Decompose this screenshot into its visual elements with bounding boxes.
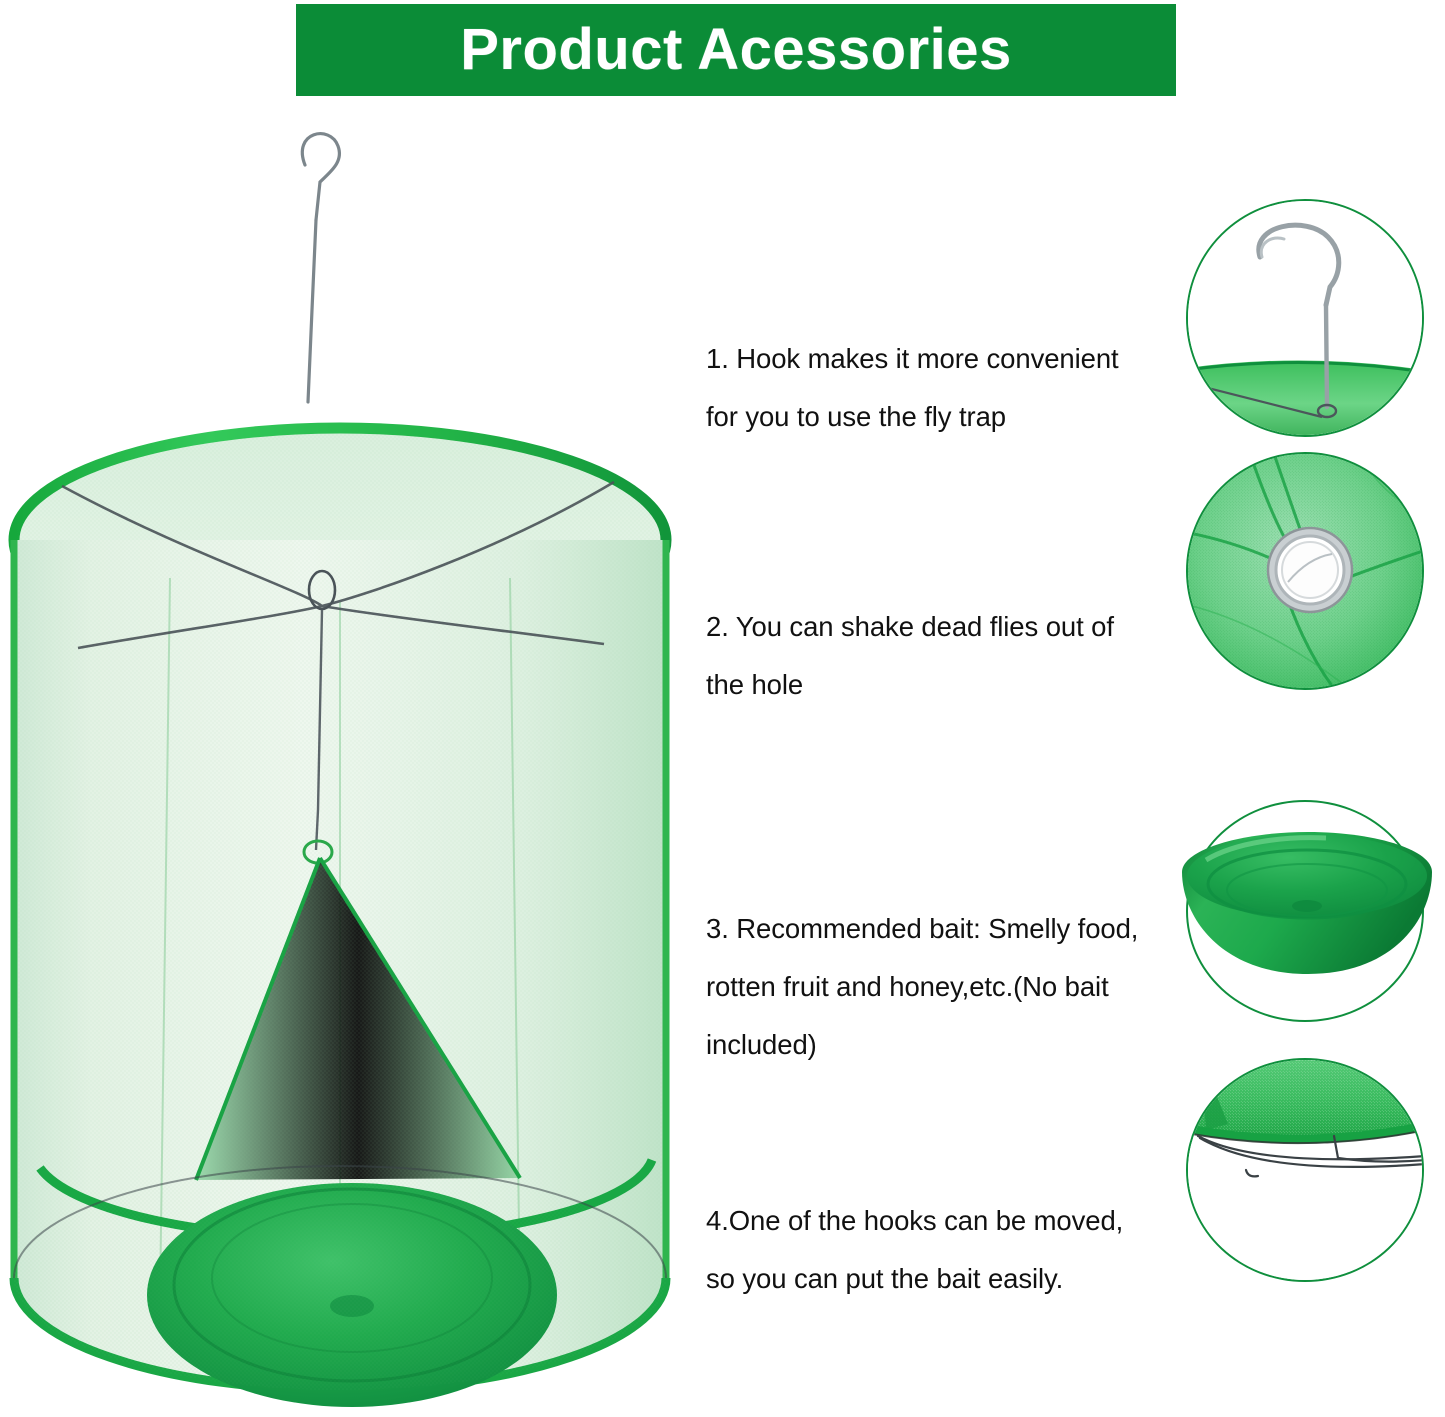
feature-item-4: 4.One of the hooks can be moved, so you … [706, 1192, 1176, 1308]
bait-bowl-art [1166, 820, 1445, 1010]
feature-1-line-2: for you to use the fly trap [706, 388, 1176, 446]
feature-item-1: 1. Hook makes it more convenient for you… [706, 330, 1176, 446]
page-title: Product Acessories [460, 21, 1012, 79]
thumbnail-grommet-hole-closeup [1186, 452, 1424, 690]
feature-item-3: 3. Recommended bait: Smelly food, rotten… [706, 900, 1176, 1074]
wire-hook-icon [302, 134, 339, 402]
metal-grommet-icon [1268, 528, 1352, 612]
feature-1-line-1: 1. Hook makes it more convenient [706, 330, 1176, 388]
feature-3-line-3: included) [706, 1016, 1176, 1074]
feature-2-line-2: the hole [706, 656, 1176, 714]
thumbnail-movable-hook-closeup [1186, 1058, 1424, 1282]
feature-4-line-2: so you can put the bait easily. [706, 1250, 1176, 1308]
product-accessories-infographic: Product Acessories [0, 0, 1445, 1417]
bowl-center-dimple [1292, 900, 1322, 912]
main-product-image [0, 110, 690, 1410]
feature-4-line-1: 4.One of the hooks can be moved, [706, 1192, 1176, 1250]
feature-item-2: 2. You can shake dead flies out of the h… [706, 598, 1176, 714]
feature-3-line-1: 3. Recommended bait: Smelly food, [706, 900, 1176, 958]
thumbnail-hook-closeup [1186, 199, 1424, 437]
thumbnail-bait-bowl-closeup [1186, 800, 1424, 1022]
feature-2-line-1: 2. You can shake dead flies out of [706, 598, 1176, 656]
header-banner: Product Acessories [296, 4, 1176, 96]
mesh-top-slice [1188, 360, 1422, 435]
feature-3-line-2: rotten fruit and honey,etc.(No bait [706, 958, 1176, 1016]
